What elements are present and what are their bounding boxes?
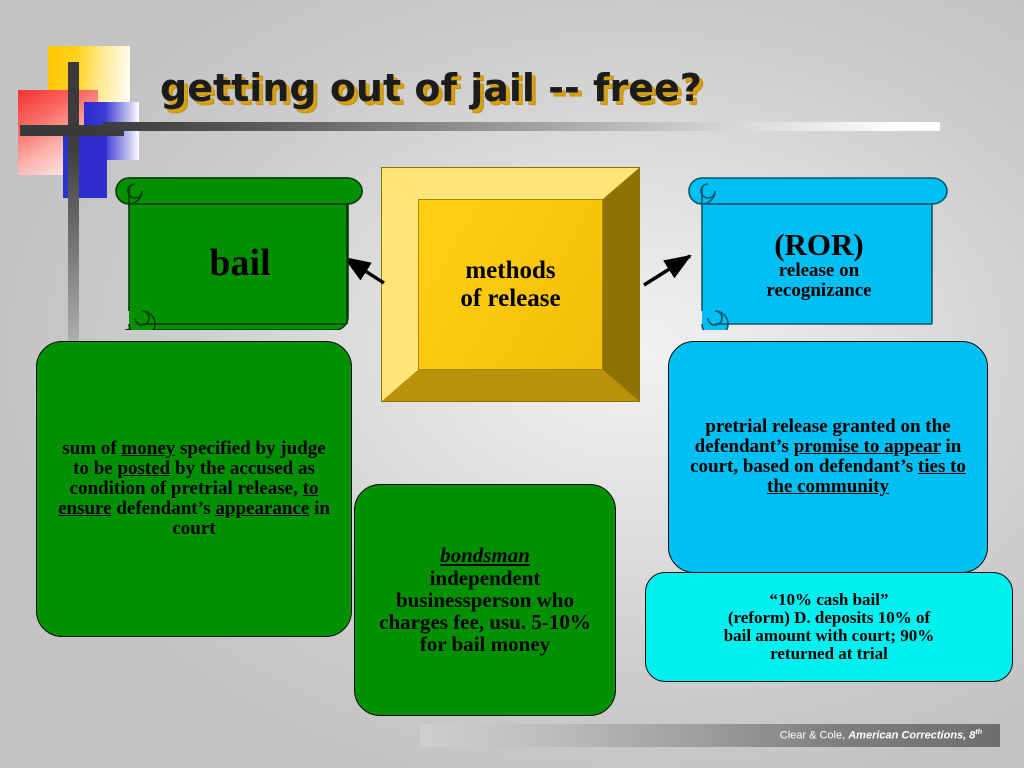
ror-abbr: (ROR) <box>774 229 864 262</box>
cash-bail-title: “10% cash bail” <box>724 591 935 609</box>
cash-bail-line1: (reform) D. deposits 10% of <box>724 609 935 627</box>
footer-bar: Clear & Cole, American Corrections, 8th <box>420 724 1000 747</box>
arrow-to-ror <box>644 256 690 285</box>
ror-label-group: (ROR) release on recognizance <box>706 206 932 324</box>
methods-of-release-label: methods of release <box>460 257 560 312</box>
cash-bail-text: “10% cash bail” (reform) D. deposits 10%… <box>724 591 935 663</box>
bail-definition-box: sum of money specified by judge to be po… <box>36 341 352 637</box>
cash-bail-line2: bail amount with court; 90% <box>724 627 935 645</box>
footer-authors: Clear & Cole, <box>780 730 848 742</box>
title-divider <box>103 122 940 131</box>
ror-expanded-line2: recognizance <box>766 281 871 301</box>
ror-definition-box: pretrial release granted on the defendan… <box>668 341 988 573</box>
footer-citation: Clear & Cole, American Corrections, 8th <box>780 729 1000 742</box>
cash-bail-box: “10% cash bail” (reform) D. deposits 10%… <box>645 572 1013 682</box>
bail-definition-text: sum of money specified by judge to be po… <box>53 439 335 540</box>
ror-definition-text: pretrial release granted on the defendan… <box>685 417 971 498</box>
ror-expanded-line1: release on <box>779 261 859 281</box>
footer-book-title: American Corrections, 8 <box>848 730 975 742</box>
logo-cross-vertical <box>68 62 79 350</box>
bail-scroll-box: bail <box>113 172 363 330</box>
footer-edition-suffix: th <box>975 729 982 736</box>
methods-of-release-inner: methods of release <box>418 199 603 370</box>
bail-label: bail <box>133 204 347 324</box>
bondsman-box: bondsman independent businessperson who … <box>354 484 616 716</box>
bondsman-term: bondsman <box>440 543 530 567</box>
slide-canvas: getting out of jail -- free? methods of … <box>0 0 1024 768</box>
bondsman-text: bondsman independent businessperson who … <box>369 544 601 655</box>
bondsman-body: independent businessperson who charges f… <box>379 566 591 657</box>
ror-scroll-box: (ROR) release on recognizance <box>686 172 948 330</box>
page-title: getting out of jail -- free? <box>160 66 702 110</box>
cash-bail-line3: returned at trial <box>724 645 935 663</box>
methods-of-release-box: methods of release <box>381 167 640 402</box>
